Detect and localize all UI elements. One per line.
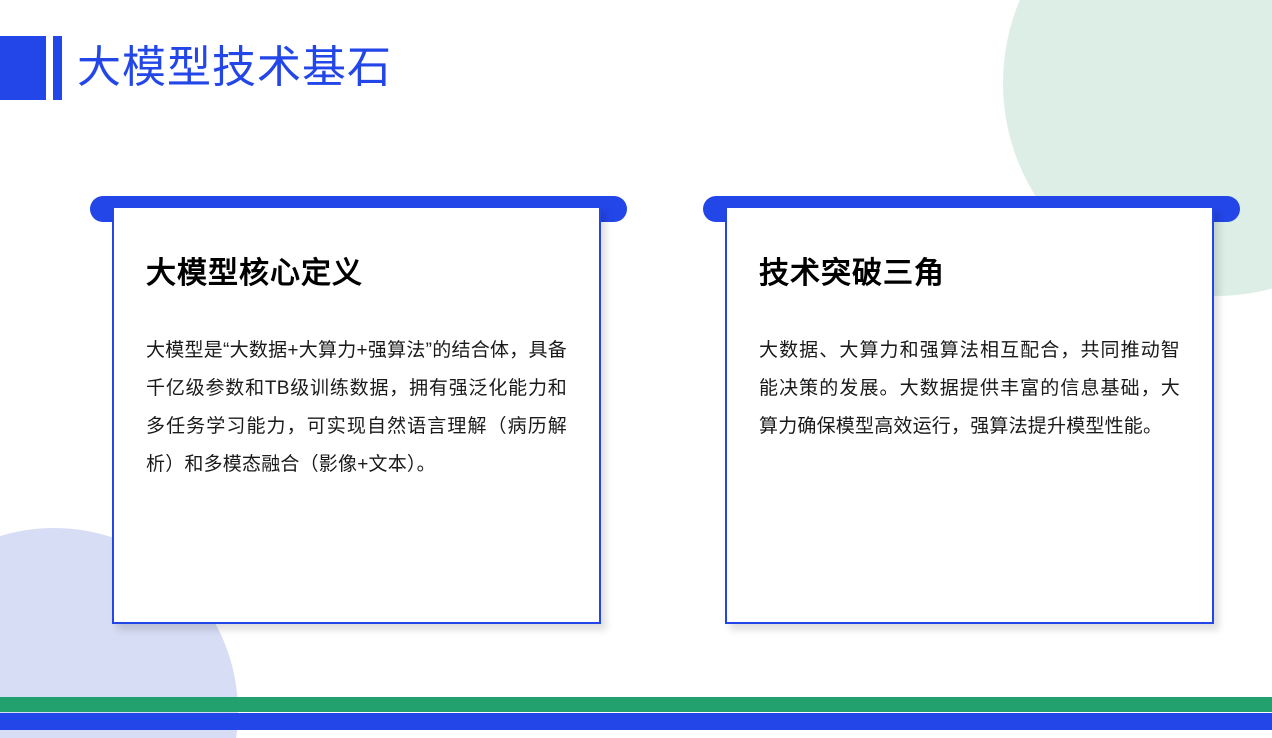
card-body: 技术突破三角 大数据、大算力和强算法相互配合，共同推动智能决策的发展。大数据提供… [725,206,1214,624]
card-paragraph: 大模型是“大数据+大算力+强算法”的结合体，具备千亿级参数和TB级训练数据，拥有… [146,332,567,484]
card-heading: 技术突破三角 [759,256,1180,292]
card-paragraph: 大数据、大算力和强算法相互配合，共同推动智能决策的发展。大数据提供丰富的信息基础… [759,332,1180,446]
footer-bar-blue [0,713,1272,730]
card-heading: 大模型核心定义 [146,256,567,292]
card-body: 大模型核心定义 大模型是“大数据+大算力+强算法”的结合体，具备千亿级参数和TB… [112,206,601,624]
footer-bar-green [0,697,1272,712]
card-group: 大模型核心定义 大模型是“大数据+大算力+强算法”的结合体，具备千亿级参数和TB… [0,0,1272,738]
slide-canvas: 大模型技术基石 大模型核心定义 大模型是“大数据+大算力+强算法”的结合体，具备… [0,0,1272,738]
